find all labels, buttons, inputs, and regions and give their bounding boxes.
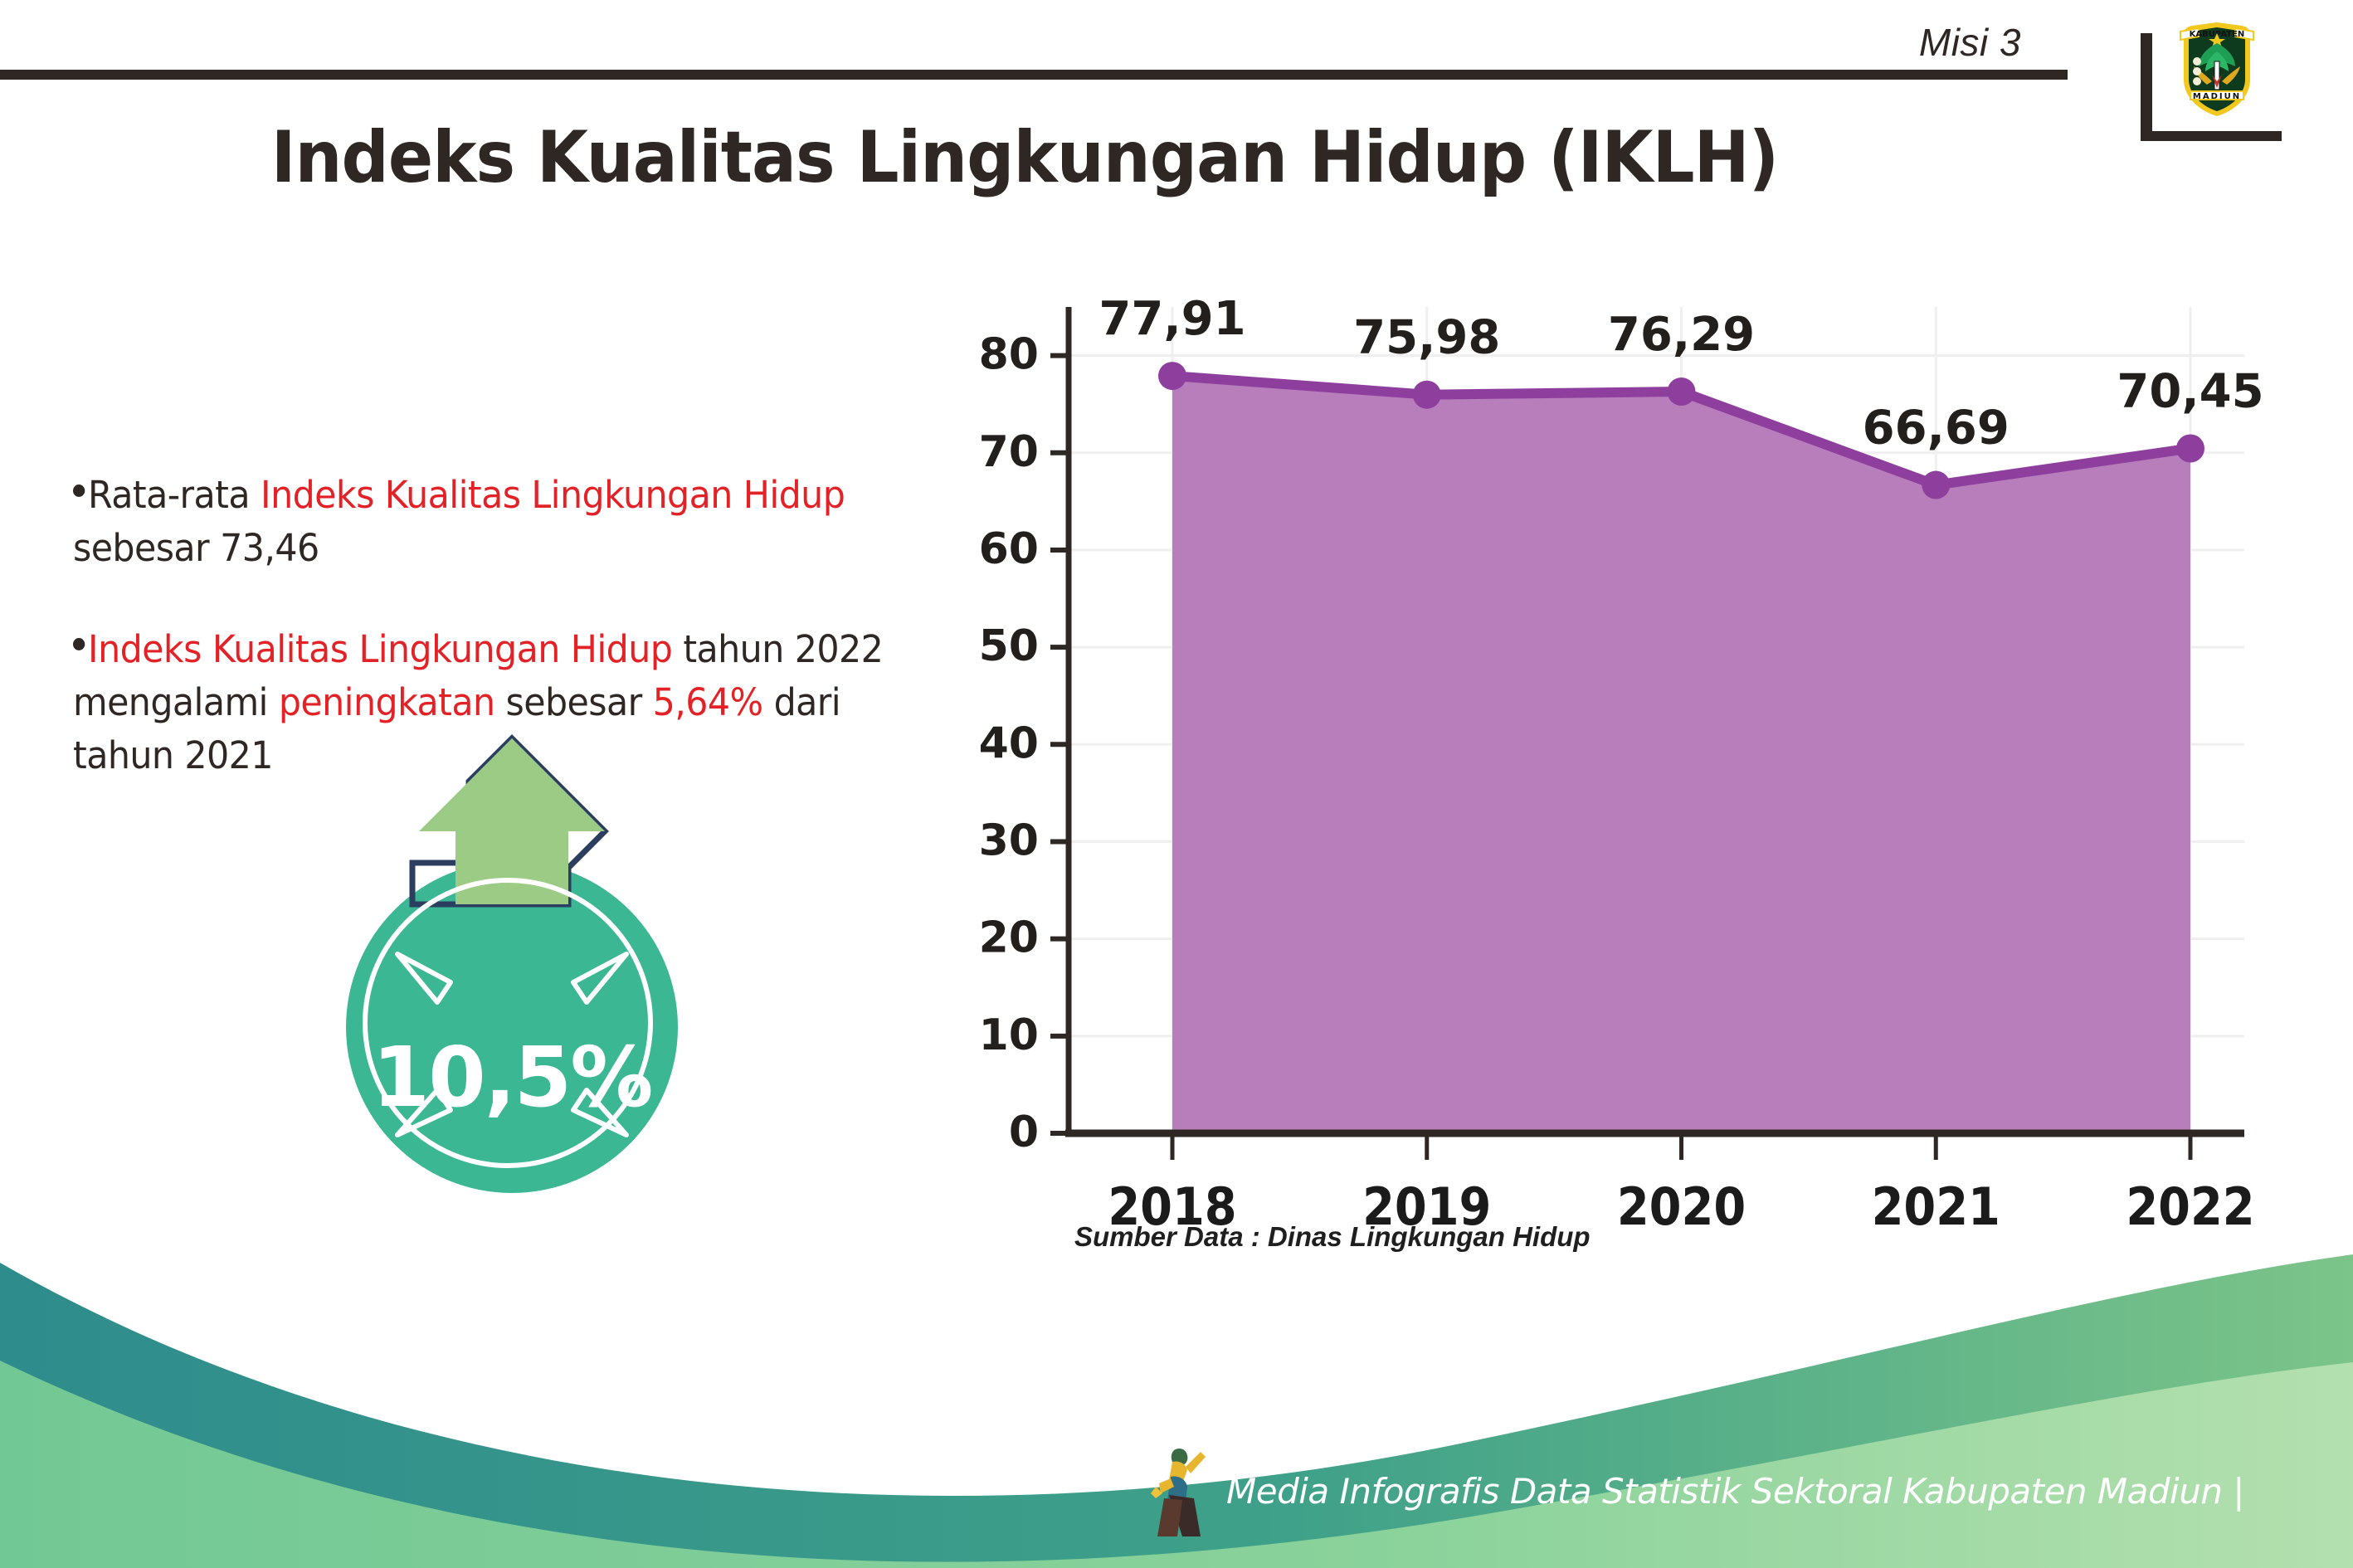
svg-text:30: 30 bbox=[979, 816, 1039, 865]
svg-text:77,91: 77,91 bbox=[1099, 292, 1245, 346]
statistics-mascot-icon bbox=[1149, 1444, 1224, 1543]
svg-text:2021: 2021 bbox=[1872, 1176, 2000, 1237]
svg-text:70,45: 70,45 bbox=[2117, 364, 2263, 418]
kabupaten-madiun-crest-icon: KABUPATEN MADIUN bbox=[2174, 15, 2260, 121]
misi-label: Misi 3 bbox=[1919, 20, 2021, 65]
bracket-vertical-bar bbox=[2141, 33, 2152, 141]
svg-text:70: 70 bbox=[979, 427, 1039, 477]
svg-text:75,98: 75,98 bbox=[1353, 311, 1500, 365]
svg-text:0: 0 bbox=[1009, 1108, 1039, 1157]
increase-badge: 10,5% bbox=[328, 730, 759, 1195]
bracket-horizontal-bar bbox=[2141, 131, 2282, 141]
svg-text:50: 50 bbox=[979, 621, 1039, 671]
svg-text:80: 80 bbox=[979, 330, 1039, 380]
badge-corner-arrow-icons bbox=[346, 861, 678, 1193]
bullet-2-seg-4: sebesar bbox=[494, 680, 652, 724]
chart-y-axis-ticks: 01020304050607080 bbox=[979, 330, 1069, 1157]
footer-caption: Media Infografis Data Statistik Sektoral… bbox=[1226, 1471, 2244, 1512]
bullet-dot-icon bbox=[73, 485, 85, 497]
svg-text:66,69: 66,69 bbox=[1863, 402, 2010, 455]
svg-text:60: 60 bbox=[979, 524, 1039, 574]
badge-percentage-value: 10,5% bbox=[346, 1029, 678, 1126]
bullet-1-seg-2: Indeks Kualitas Lingkungan Hidup bbox=[261, 473, 845, 517]
chart-x-axis-ticks bbox=[1172, 1137, 2190, 1160]
bullet-item-1: Rata-rata Indeks Kualitas Lingkungan Hid… bbox=[73, 469, 909, 575]
iklh-area-chart: 01020304050607080 77,9175,9876,2966,6970… bbox=[962, 290, 2290, 1286]
svg-text:76,29: 76,29 bbox=[1608, 308, 1755, 362]
bullet-1-seg-3: sebesar 73,46 bbox=[73, 526, 319, 570]
bullet-dot-icon bbox=[73, 638, 85, 650]
svg-text:20: 20 bbox=[979, 913, 1039, 963]
chart-area-series bbox=[1172, 376, 2190, 1133]
header-divider-rule bbox=[0, 70, 2068, 80]
svg-text:10: 10 bbox=[979, 1010, 1039, 1060]
bullet-2-seg-3: peningkatan bbox=[279, 680, 495, 724]
page-title: Indeks Kualitas Lingkungan Hidup (IKLH) bbox=[71, 116, 1977, 199]
svg-text:MADIUN: MADIUN bbox=[2193, 92, 2241, 101]
svg-text:2020: 2020 bbox=[1617, 1176, 1746, 1237]
svg-text:40: 40 bbox=[979, 718, 1039, 768]
bullet-2-seg-1: Indeks Kualitas Lingkungan Hidup bbox=[88, 627, 672, 671]
chart-canvas: 01020304050607080 77,9175,9876,2966,6970… bbox=[962, 290, 2290, 1286]
bullet-1-seg-1: Rata-rata bbox=[88, 473, 261, 517]
bullet-2-seg-5: 5,64% bbox=[653, 680, 763, 724]
svg-text:2022: 2022 bbox=[2126, 1176, 2254, 1237]
